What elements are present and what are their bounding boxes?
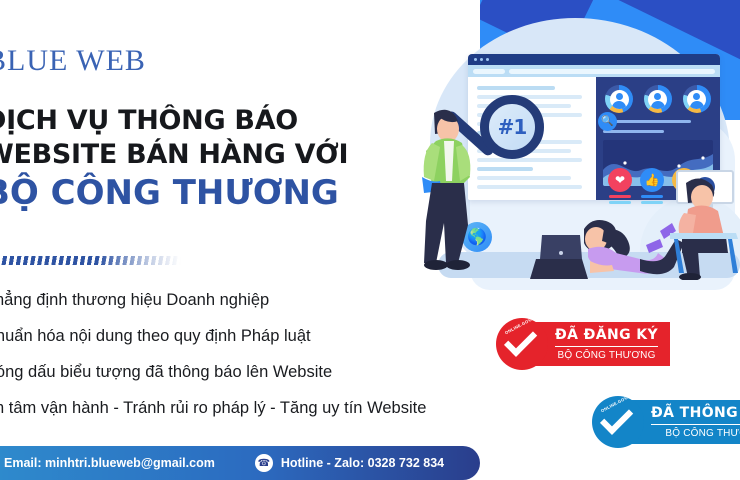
headline-line-3: BỘ CÔNG THƯƠNG xyxy=(0,172,404,214)
browser-addressbar xyxy=(468,65,720,77)
metric-bar xyxy=(641,195,663,198)
content-line xyxy=(477,185,582,189)
metric-bar xyxy=(609,201,631,204)
brand-logo: BLUE WEB xyxy=(0,44,146,78)
headline-line-1: DỊCH VỤ THÔNG BÁO xyxy=(0,104,404,138)
avatar xyxy=(610,90,629,109)
email-text[interactable]: Email: minhtri.blueweb@gmail.com xyxy=(4,456,215,470)
benefits-list: Khẳng định thương hiệu Doanh nghiệp Chuẩ… xyxy=(0,282,544,426)
status-badge-notified[interactable]: ONLINE.GOV.VN ĐÃ THÔNG BÁO BỘ CÔNG THƯƠN… xyxy=(592,396,740,448)
phone-icon: ☎ xyxy=(255,454,273,472)
content-line xyxy=(477,86,555,90)
content-line xyxy=(477,158,582,162)
avatar xyxy=(687,90,706,109)
badge-plate: ĐÃ THÔNG BÁO BỘ CÔNG THƯƠNG xyxy=(631,400,740,444)
badge-subtitle: BỘ CÔNG THƯƠNG xyxy=(558,350,656,361)
heart-icon: ❤ xyxy=(608,168,632,204)
page-title: DỊCH VỤ THÔNG BÁO WEBSITE BÁN HÀNG VỚI B… xyxy=(0,104,404,214)
avatar xyxy=(648,90,667,109)
avatar-body-icon xyxy=(690,101,704,109)
hotline-text: Hotline - Zalo: 0328 732 834 xyxy=(281,456,444,470)
badge-title: ĐÃ ĐĂNG KÝ xyxy=(555,327,658,343)
avatar-body-icon xyxy=(612,101,626,109)
poster-canvas: #1 🔍 ❤ 👍 ★ </> 🌎 xyxy=(0,0,740,480)
rank-label: #1 xyxy=(498,115,527,139)
dashed-divider xyxy=(0,256,181,265)
addressbar-segment xyxy=(473,69,505,74)
seal-check-icon: ONLINE.GOV.VN xyxy=(592,396,644,448)
seal-check-icon: ONLINE.GOV.VN xyxy=(496,318,548,370)
person-lying-with-laptop-illustration xyxy=(528,215,688,285)
addressbar-field xyxy=(509,69,715,74)
status-badge-registered[interactable]: ONLINE.GOV.VN ĐÃ ĐĂNG KÝ BỘ CÔNG THƯƠNG xyxy=(496,318,670,370)
donut-chart-icon xyxy=(605,85,633,113)
badge-title: ĐÃ THÔNG BÁO xyxy=(651,405,740,421)
list-item: Đóng dấu biểu tượng đã thông báo lên Web… xyxy=(0,354,544,390)
browser-titlebar xyxy=(468,54,720,65)
avatar-head-icon xyxy=(616,93,623,100)
thumbs-up-icon: 👍 xyxy=(640,168,664,204)
magnifier-icon: #1 xyxy=(480,95,544,159)
badge-subtitle: BỘ CÔNG THƯƠNG xyxy=(665,428,740,439)
content-line xyxy=(477,167,533,171)
metric-bar xyxy=(641,201,663,204)
dashboard-avatar-stats xyxy=(603,85,713,113)
badge-plate: ĐÃ ĐĂNG KÝ BỘ CÔNG THƯƠNG xyxy=(535,322,670,366)
list-item: Chuẩn hóa nội dung theo quy định Pháp lu… xyxy=(0,318,544,354)
metric-bar xyxy=(609,195,631,198)
person-standing-illustration xyxy=(410,105,480,270)
content-line xyxy=(477,176,571,180)
window-dot-icon xyxy=(474,58,477,61)
list-item: An tâm vận hành - Tránh rủi ro pháp lý -… xyxy=(0,390,544,426)
search-icon: 🔍 xyxy=(598,112,617,131)
content-line xyxy=(477,95,582,99)
badge-divider xyxy=(651,424,740,426)
contact-footer-bar: Email: minhtri.blueweb@gmail.com ☎ Hotli… xyxy=(0,446,480,480)
person-sitting-at-desk-illustration xyxy=(668,175,740,280)
list-item: Khẳng định thương hiệu Doanh nghiệp xyxy=(0,282,544,318)
donut-chart-icon xyxy=(683,85,711,113)
heart-icon-circle: ❤ xyxy=(608,168,632,192)
dashboard-line xyxy=(603,130,664,133)
thumbs-up-icon-circle: 👍 xyxy=(640,168,664,192)
hotline-group[interactable]: ☎ Hotline - Zalo: 0328 732 834 xyxy=(255,454,444,472)
avatar-head-icon xyxy=(654,93,661,100)
headline-line-2: WEBSITE BÁN HÀNG VỚI xyxy=(0,138,404,172)
window-dot-icon xyxy=(480,58,483,61)
badge-divider xyxy=(555,346,658,348)
window-dot-icon xyxy=(486,58,489,61)
avatar-body-icon xyxy=(651,101,665,109)
avatar-head-icon xyxy=(693,93,700,100)
donut-chart-icon xyxy=(644,85,672,113)
